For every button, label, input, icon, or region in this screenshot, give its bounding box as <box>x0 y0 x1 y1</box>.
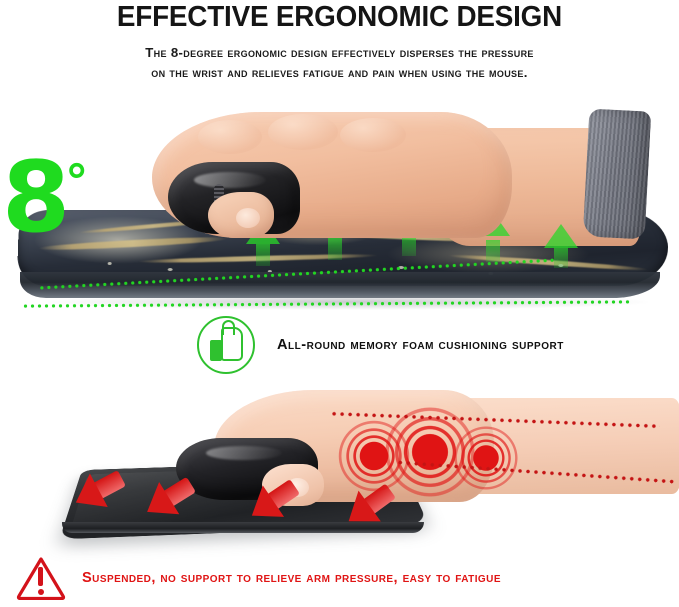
positive-caption-text: All-round memory foam cushioning support <box>277 337 564 353</box>
warning-triangle-icon <box>14 554 70 602</box>
arrow-shaft <box>256 244 270 266</box>
arrow-head-icon <box>544 224 578 248</box>
marble-speck <box>108 262 112 265</box>
angle-badge: 8° <box>2 156 88 240</box>
warning-caption-text: Suspended, no support to relieve arm pre… <box>82 570 501 586</box>
flat-pad-scene <box>0 382 679 554</box>
header-block: EFFECTIVE ERGONOMIC DESIGN The 8-degree … <box>0 0 679 96</box>
arrow-shaft <box>328 238 342 260</box>
subtitle-line-1: The 8-degree ergonomic design effectivel… <box>0 43 679 63</box>
page-title: EFFECTIVE ERGONOMIC DESIGN <box>14 1 666 34</box>
positive-feature-caption: All-round memory foam cushioning support <box>197 316 564 374</box>
knuckle <box>268 114 338 150</box>
marble-speck <box>168 268 173 271</box>
thumbs-up-icon <box>197 316 255 374</box>
mouse-highlight <box>194 172 266 188</box>
degree-symbol: ° <box>65 154 88 208</box>
pressure-point <box>452 424 520 492</box>
page-subtitle: The 8-degree ergonomic design effectivel… <box>0 43 679 83</box>
warning-caption: Suspended, no support to relieve arm pre… <box>14 553 501 603</box>
knuckle <box>198 120 262 154</box>
subtitle-line-2: on the wrist and relieves fatigue and pa… <box>0 63 679 83</box>
thumb-glyph <box>221 327 243 361</box>
fingernail-top <box>236 208 260 228</box>
exclamation-dot <box>38 589 44 595</box>
ergonomic-pad-scene: 8° <box>0 96 679 322</box>
exclamation-bar <box>38 567 43 586</box>
knuckle <box>340 118 406 152</box>
mouse-highlight <box>206 446 282 460</box>
angle-value: 8 <box>2 141 65 255</box>
sleeve-cuff-top <box>583 108 652 239</box>
arrow-shaft <box>486 240 500 262</box>
